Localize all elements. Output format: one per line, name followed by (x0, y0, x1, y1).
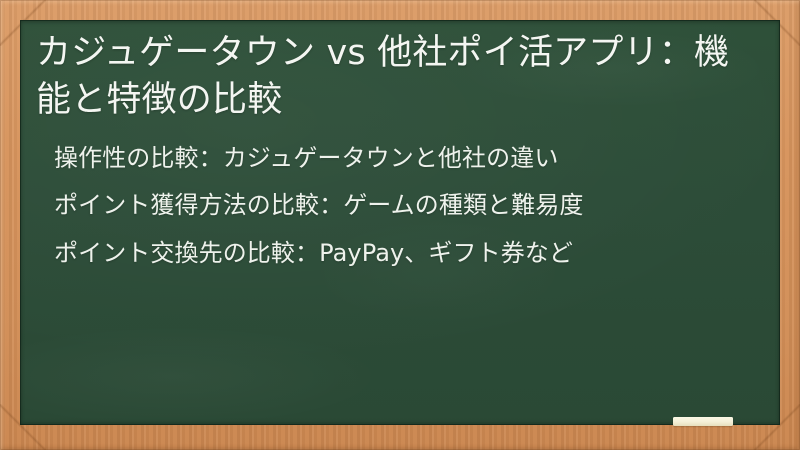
chalkboard-slide: カジュゲータウン vs 他社ポイ活アプリ：機能と特徴の比較 操作性の比較：カジュ… (0, 0, 800, 450)
chalkboard-surface: カジュゲータウン vs 他社ポイ活アプリ：機能と特徴の比較 操作性の比較：カジュ… (20, 20, 780, 425)
page-title: カジュゲータウン vs 他社ポイ活アプリ：機能と特徴の比較 (36, 30, 762, 124)
list-item: 操作性の比較：カジュゲータウンと他社の違い (54, 143, 762, 175)
chalk-stick-icon (673, 417, 733, 426)
list-item: ポイント獲得方法の比較：ゲームの種類と難易度 (54, 190, 762, 222)
board-content: カジュゲータウン vs 他社ポイ活アプリ：機能と特徴の比較 操作性の比較：カジュ… (20, 20, 780, 270)
list-item: ポイント交換先の比較：PayPay、ギフト券など (54, 238, 762, 270)
topic-list: 操作性の比較：カジュゲータウンと他社の違い ポイント獲得方法の比較：ゲームの種類… (36, 143, 762, 270)
